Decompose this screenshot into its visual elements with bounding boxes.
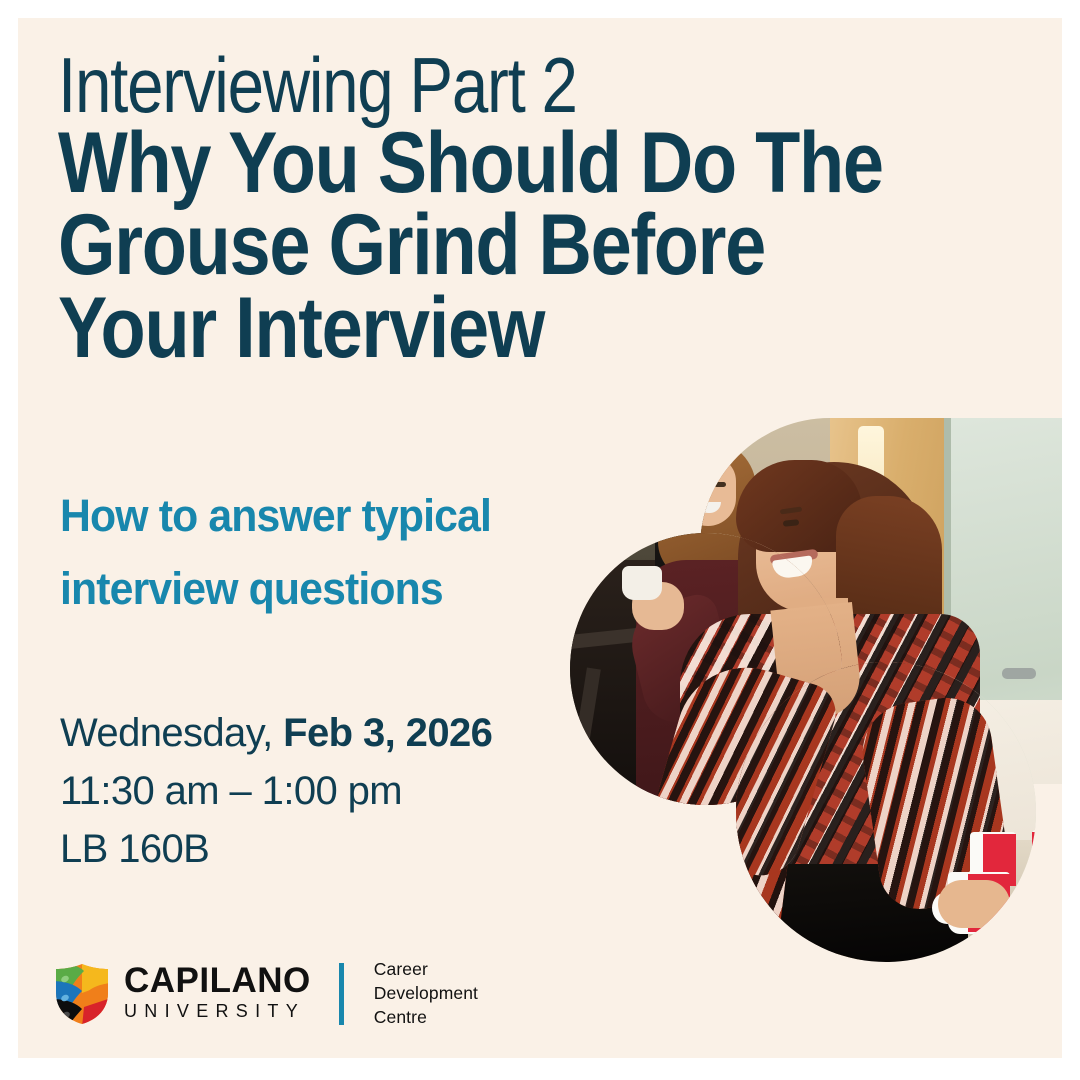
- page-title: Interviewing Part 2 Why You Should Do Th…: [58, 50, 1058, 369]
- headline-line-3: Your Interview: [58, 287, 918, 370]
- capilano-wordmark: CAPILANO UNIVERSITY: [124, 963, 311, 1025]
- event-location: LB 160B: [60, 820, 492, 878]
- photo-bottom-circle: [736, 662, 1036, 962]
- event-date-row: Wednesday, Feb 3, 2026: [60, 704, 492, 762]
- event-date: Feb 3, 2026: [283, 711, 492, 755]
- wordmark-university: UNIVERSITY: [124, 998, 311, 1025]
- event-photo: [540, 400, 1062, 960]
- cdc-line-1: Career: [374, 958, 478, 982]
- poster-canvas: Interviewing Part 2 Why You Should Do Th…: [18, 18, 1062, 1058]
- subtitle-line-1: How to answer typical: [60, 480, 611, 553]
- headline-kicker: Interviewing Part 2: [58, 50, 898, 122]
- capilano-shield-icon: [54, 963, 110, 1025]
- event-day-prefix: Wednesday,: [60, 711, 283, 755]
- subtitle-line-2: interview questions: [60, 553, 611, 626]
- cdc-line-2: Development: [374, 982, 478, 1006]
- event-details: Wednesday, Feb 3, 2026 11:30 am – 1:00 p…: [60, 704, 492, 878]
- capilano-university-logo: CAPILANO UNIVERSITY Career Development C…: [54, 958, 478, 1029]
- cdc-line-3: Centre: [374, 1006, 478, 1030]
- career-development-centre-label: Career Development Centre: [374, 958, 478, 1029]
- photo-scene-bottom: [736, 662, 1036, 960]
- wordmark-capilano: CAPILANO: [124, 963, 311, 998]
- event-time: 11:30 am – 1:00 pm: [60, 762, 492, 820]
- headline-line-2: Grouse Grind Before: [58, 204, 918, 287]
- headline-line-1: Why You Should Do The: [58, 122, 918, 205]
- logo-divider: [339, 963, 344, 1025]
